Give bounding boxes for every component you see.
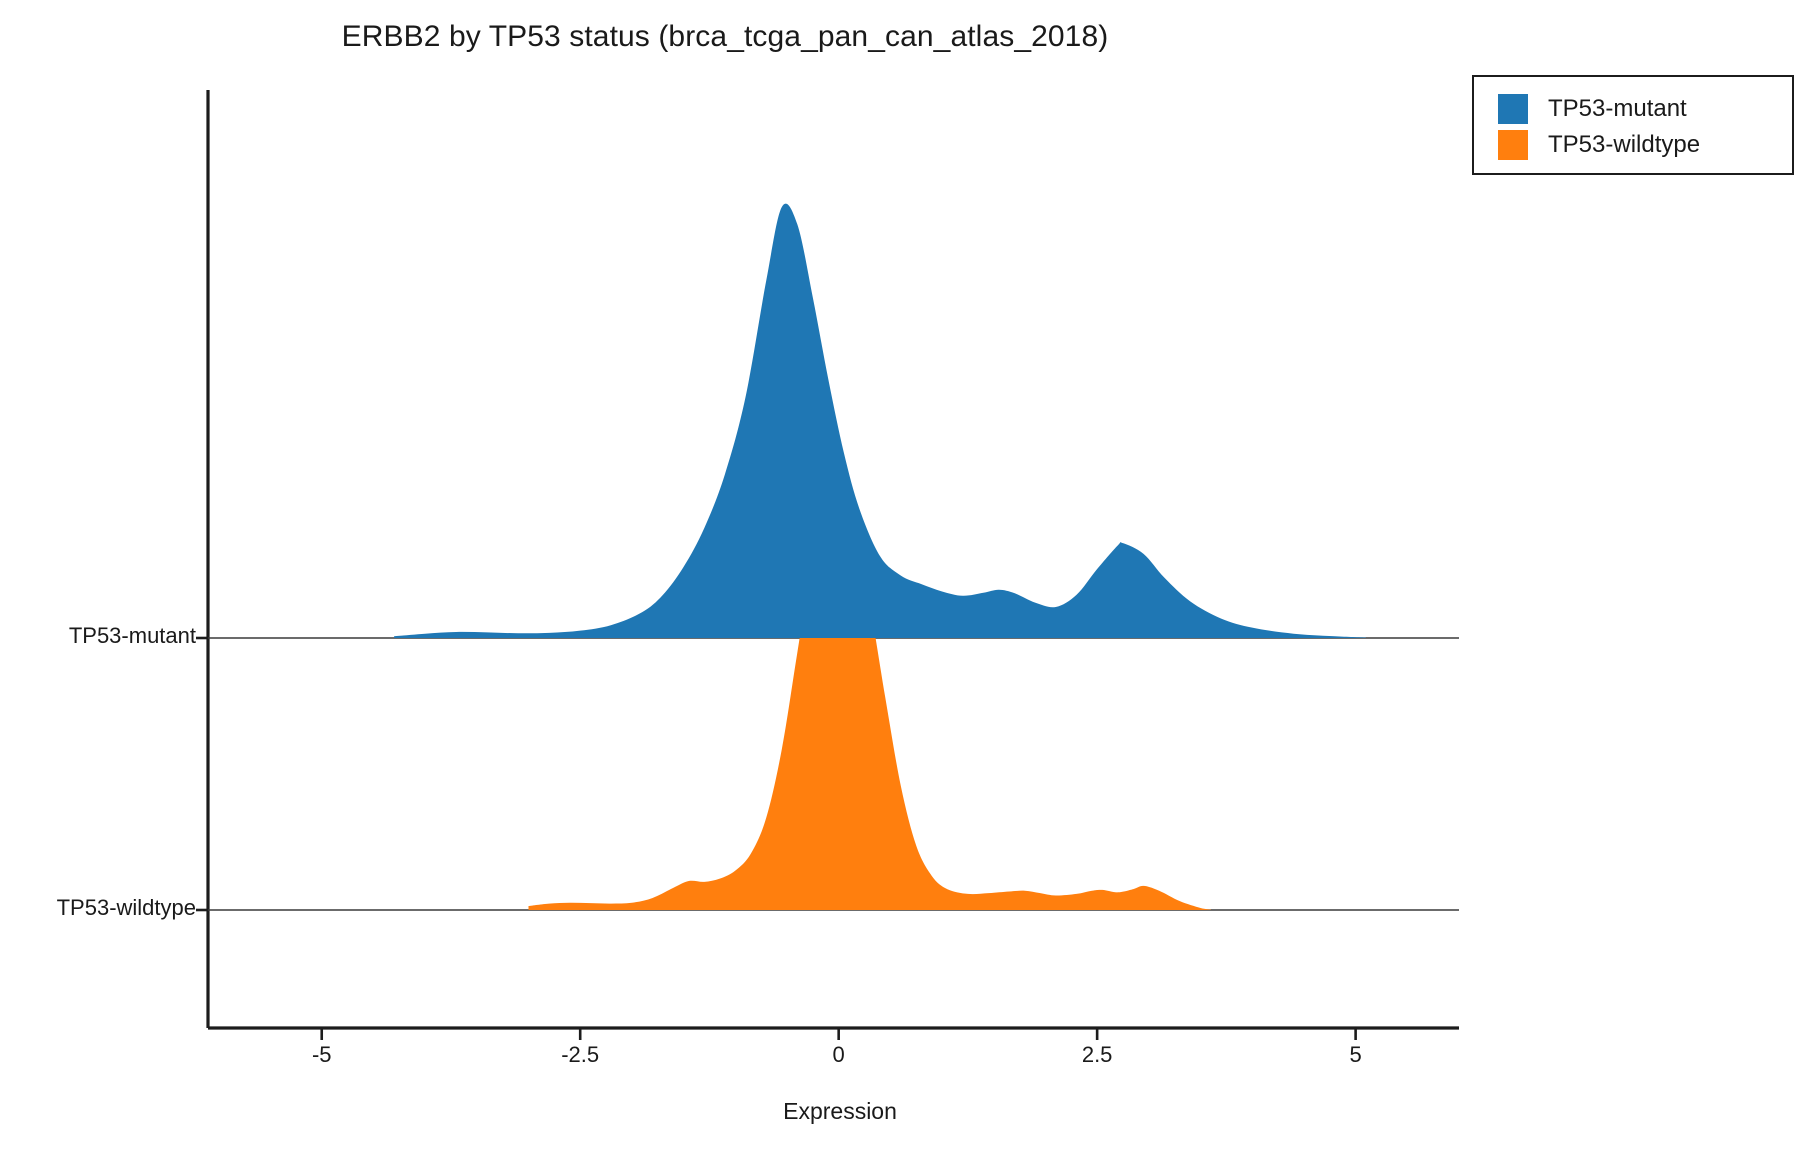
y-tick-label-wrap-1: TP53-wildtype <box>0 910 196 911</box>
legend-label-tp53-mutant: TP53-mutant <box>1548 95 1687 123</box>
y-tick-label-tp53-wildtype: TP53-wildtype <box>16 895 196 921</box>
plot-area <box>0 0 1804 1169</box>
x-tick-label: -5 <box>277 1042 367 1068</box>
x-tick-label: -2.5 <box>535 1042 625 1068</box>
y-tick-label-tp53-mutant: TP53-mutant <box>16 623 196 649</box>
x-tick-label: 5 <box>1311 1042 1401 1068</box>
legend-entry-tp53-wildtype[interactable]: TP53-wildtype <box>1498 127 1792 163</box>
legend-entry-tp53-mutant[interactable]: TP53-mutant <box>1498 91 1792 127</box>
x-tick-marks <box>322 1028 1356 1040</box>
x-tick-label: 0 <box>794 1042 884 1068</box>
x-tick-label: 2.5 <box>1052 1042 1142 1068</box>
density-area-tp53-mutant <box>394 204 1366 638</box>
x-axis-label: Expression <box>710 1098 970 1125</box>
legend-swatch-orange-icon <box>1498 130 1528 160</box>
y-tick-marks <box>196 638 208 910</box>
legend-box: TP53-mutant TP53-wildtype <box>1472 75 1794 175</box>
legend-swatch-blue-icon <box>1498 94 1528 124</box>
figure-canvas: ERBB2 by TP53 status (brca_tcga_pan_can_… <box>0 0 1804 1169</box>
y-tick-label-wrap-0: TP53-mutant <box>0 638 196 639</box>
legend-label-tp53-wildtype: TP53-wildtype <box>1548 131 1700 159</box>
